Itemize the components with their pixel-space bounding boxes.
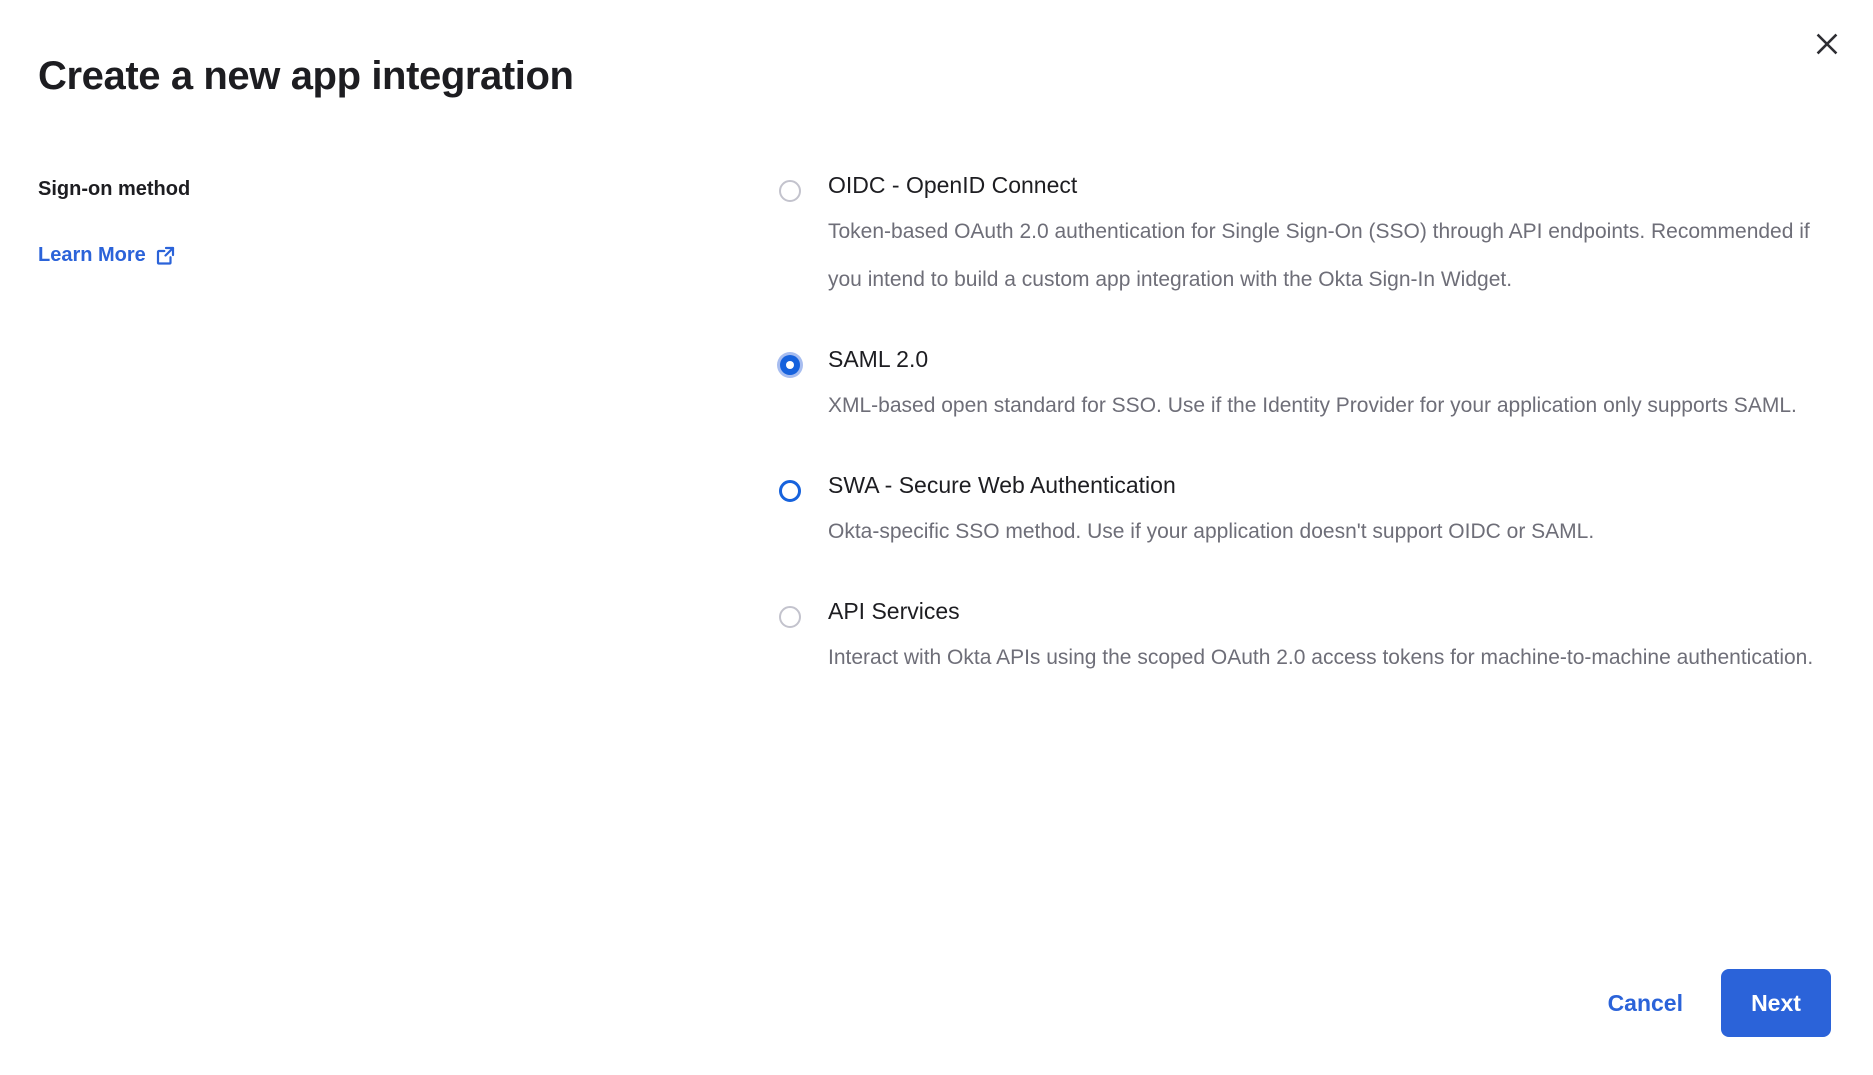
- radio-icon-swa[interactable]: [777, 478, 803, 504]
- learn-more-link[interactable]: Learn More: [38, 242, 176, 268]
- radio-option-oidc[interactable]: OIDC - OpenID Connect Token-based OAuth …: [770, 170, 1830, 304]
- radio-icon-saml[interactable]: [777, 352, 803, 378]
- learn-more-label: Learn More: [38, 242, 146, 268]
- sign-on-method-label: Sign-on method: [38, 176, 558, 202]
- cancel-button[interactable]: Cancel: [1602, 980, 1689, 1027]
- close-icon-button[interactable]: [1805, 22, 1849, 66]
- sign-on-method-radio-group[interactable]: OIDC - OpenID Connect Token-based OAuth …: [770, 170, 1830, 682]
- sign-on-method-section: Sign-on method Learn More: [38, 176, 558, 268]
- radio-icon-oidc[interactable]: [777, 178, 803, 204]
- radio-icon-api-services[interactable]: [777, 604, 803, 630]
- create-app-integration-dialog: Create a new app integration Sign-on met…: [0, 0, 1873, 1075]
- radio-description-saml: XML-based open standard for SSO. Use if …: [828, 382, 1830, 430]
- radio-label-swa: SWA - Secure Web Authentication: [828, 470, 1830, 500]
- radio-label-saml: SAML 2.0: [828, 344, 1830, 374]
- radio-description-swa: Okta-specific SSO method. Use if your ap…: [828, 508, 1830, 556]
- radio-description-oidc: Token-based OAuth 2.0 authentication for…: [828, 208, 1830, 304]
- radio-description-api-services: Interact with Okta APIs using the scoped…: [828, 634, 1830, 682]
- radio-option-saml[interactable]: SAML 2.0 XML-based open standard for SSO…: [770, 344, 1830, 430]
- page-title: Create a new app integration: [38, 52, 574, 100]
- radio-label-oidc: OIDC - OpenID Connect: [828, 170, 1830, 200]
- next-button[interactable]: Next: [1721, 969, 1831, 1037]
- dialog-footer: Cancel Next: [1602, 969, 1831, 1037]
- radio-option-swa[interactable]: SWA - Secure Web Authentication Okta-spe…: [770, 470, 1830, 556]
- close-icon: [1814, 31, 1840, 57]
- radio-option-api-services[interactable]: API Services Interact with Okta APIs usi…: [770, 596, 1830, 682]
- external-link-icon: [155, 245, 176, 266]
- radio-label-api-services: API Services: [828, 596, 1830, 626]
